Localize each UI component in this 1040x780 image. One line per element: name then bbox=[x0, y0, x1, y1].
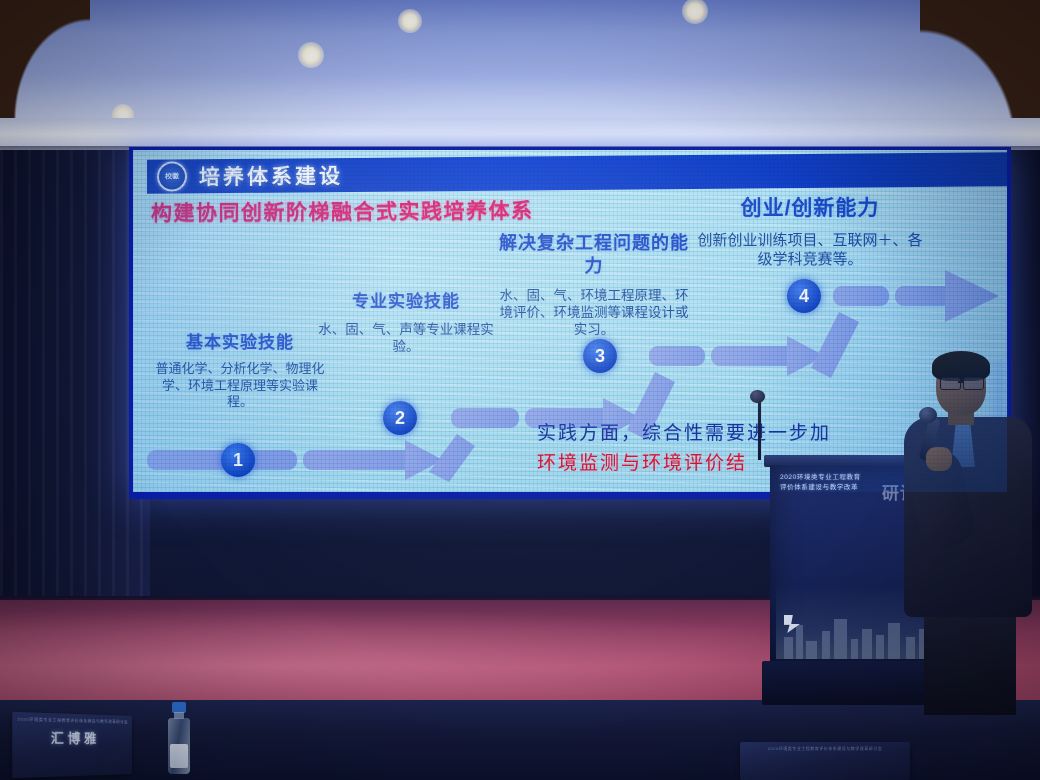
speaker-person bbox=[900, 355, 1040, 705]
slide-annotation-blue: 实践方面，综合性需要进一步加 bbox=[537, 418, 831, 445]
step-2-heading: 专业实验技能 bbox=[313, 287, 499, 312]
step-1-body: 普通化学、分析化学、物理化学、环境工程原理等实验课程。 bbox=[155, 361, 325, 411]
microphone-head-icon bbox=[750, 390, 765, 403]
ceiling-spotlight bbox=[298, 42, 324, 68]
handheld-microphone-head-icon bbox=[919, 407, 937, 423]
slide-annotation-red: 环境监测与环境评价结 bbox=[537, 448, 747, 475]
nameplate-right-subtitle: 2020环境类专业工程教育评价体系建设与教学改革研讨会 bbox=[740, 742, 910, 752]
slide-banner-title: 培养体系建设 bbox=[199, 160, 343, 191]
bottle-label bbox=[170, 744, 188, 768]
university-emblem-icon: 校徽 bbox=[157, 161, 187, 191]
speaker-hand bbox=[926, 447, 952, 471]
led-screen: 校徽 培养体系建设 构建协同创新阶梯融合式实践培养体系 bbox=[133, 150, 1007, 492]
nameplate-left: 2020环境类专业工程教育评价体系建设与教学改革研讨会 汇博雅 bbox=[12, 712, 132, 778]
step-group-1: 基本实验技能 普通化学、分析化学、物理化学、环境工程原理等实验课程。 bbox=[155, 328, 325, 411]
step-4-heading: 创业/创新能力 bbox=[695, 192, 925, 222]
step-group-2: 专业实验技能 水、固、气、声等专业课程实验。 bbox=[313, 287, 499, 356]
step-number-2: 2 bbox=[383, 401, 417, 435]
step-4-body: 创新创业训练项目、互联网＋、各级学科竞赛等。 bbox=[695, 231, 925, 269]
step-group-4: 创业/创新能力 创新创业训练项目、互联网＋、各级学科竞赛等。 bbox=[695, 192, 925, 269]
microphone-stand bbox=[758, 398, 761, 460]
emblem-label: 校徽 bbox=[165, 173, 179, 180]
speaker-glasses-left-lens bbox=[940, 377, 961, 390]
stage-curtain-left bbox=[0, 150, 150, 620]
step-3-body: 水、固、气、环境工程原理、环境评价、环境监测等课程设计或实习。 bbox=[499, 287, 689, 339]
step-2-body: 水、固、气、声等专业课程实验。 bbox=[313, 321, 499, 356]
speaker-glasses-bridge bbox=[958, 381, 964, 383]
step-number-1: 1 bbox=[221, 443, 255, 477]
step-1-heading: 基本实验技能 bbox=[155, 328, 325, 353]
speaker-glasses-right-lens bbox=[963, 377, 984, 390]
water-bottle bbox=[168, 702, 190, 774]
step-group-3: 解决复杂工程问题的能力 水、固、气、环境工程原理、环境评价、环境监测等课程设计或… bbox=[499, 232, 689, 339]
nameplate-right: 2020环境类专业工程教育评价体系建设与教学改革研讨会 bbox=[740, 742, 910, 780]
wood-trim-left bbox=[0, 0, 90, 120]
conference-photo-scene: 校徽 培养体系建设 构建协同创新阶梯融合式实践培养体系 bbox=[0, 0, 1040, 780]
ceiling-spotlight bbox=[398, 9, 422, 33]
speaker-legs bbox=[924, 605, 1016, 715]
nameplate-left-name: 汇博雅 bbox=[12, 727, 132, 747]
slide-subtitle: 构建协同创新阶梯融合式实践培养体系 bbox=[151, 195, 534, 228]
step-number-4: 4 bbox=[787, 279, 821, 313]
step-3-heading: 解决复杂工程问题的能力 bbox=[499, 232, 689, 279]
step-number-3: 3 bbox=[583, 339, 617, 373]
